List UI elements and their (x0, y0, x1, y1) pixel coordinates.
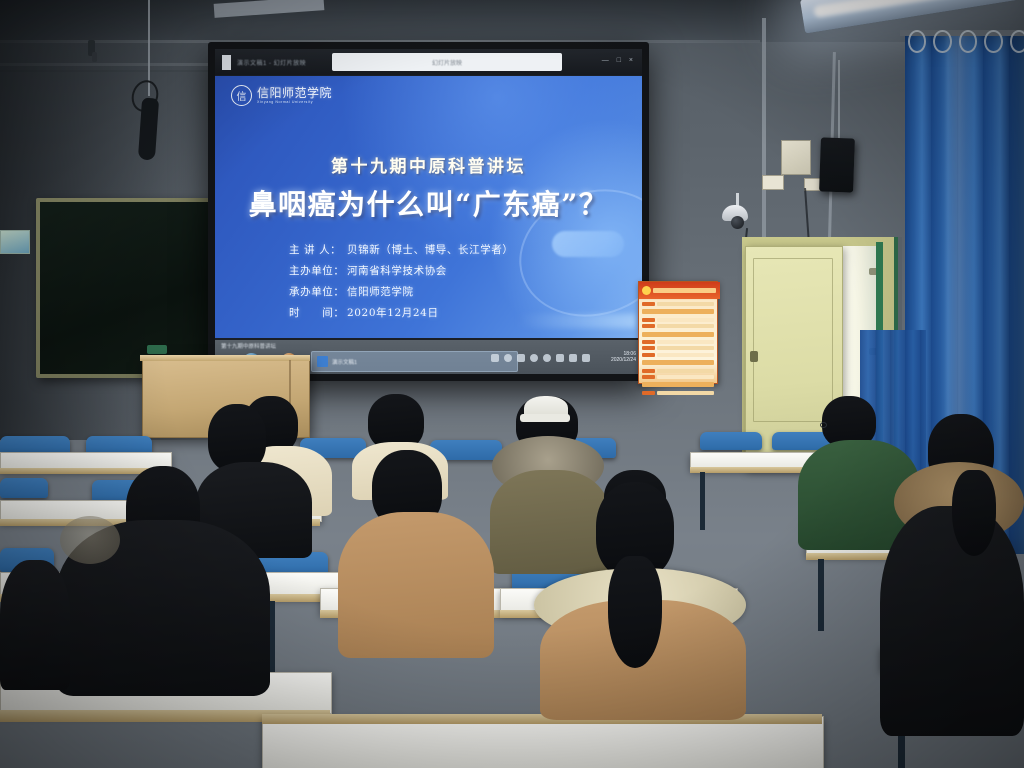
poster-row (642, 375, 714, 379)
ponytail (952, 470, 996, 556)
app-icon (222, 55, 231, 70)
slide-title: 鼻咽癌为什么叫“广东癌”？ (215, 183, 642, 223)
door-knob-icon[interactable] (750, 351, 758, 362)
curtain-ring-icon (933, 30, 951, 53)
camera-lens-icon (731, 216, 744, 229)
powerpoint-icon (317, 356, 328, 367)
glasses-icon (820, 422, 827, 428)
poster-header (639, 282, 720, 299)
poster-row (642, 318, 714, 322)
address-bar[interactable]: 幻灯片放映 (332, 53, 562, 71)
meta-value-speaker: 贝锦新（博士、博导、长江学者） (347, 244, 514, 256)
poster-row (642, 353, 714, 357)
poster-band (642, 382, 714, 387)
curtain-ring-icon (984, 30, 1002, 53)
presentation-slide: 信 信阳师范学院 Xinyang Normal University 第十九期中… (215, 76, 642, 338)
poster-row (642, 391, 714, 395)
university-logo: 信 信阳师范学院 Xinyang Normal University (231, 85, 332, 106)
system-tray[interactable] (491, 354, 590, 362)
wall-speaker-icon (819, 137, 855, 192)
network-icon[interactable] (491, 354, 499, 362)
ponytail (608, 556, 662, 668)
poster-band (642, 332, 714, 337)
podium-top-surface (140, 355, 310, 361)
meta-value-organizer: 河南省科学技术协会 (347, 265, 447, 277)
meta-label-date: 时 间： (289, 305, 347, 320)
meta-row-organizer: 主办单位：河南省科学技术协会 (289, 263, 514, 278)
coat (880, 506, 1024, 736)
cloud-icon[interactable] (543, 354, 551, 362)
chair (0, 478, 48, 498)
taskbar-window-title: 第十九期中原科普讲坛 (221, 342, 276, 350)
curtain-ring-icon (908, 30, 926, 53)
window-controls[interactable]: — □ × (602, 57, 636, 64)
slide-kicker: 第十九期中原科普讲坛 (215, 152, 642, 177)
chalk-tray-item (147, 345, 167, 354)
taskbar-active-window[interactable]: 演示文稿1 (311, 351, 518, 372)
meta-row-speaker: 主 讲 人：贝锦新（博士、博导、长江学者） (289, 242, 514, 257)
coat (490, 470, 610, 574)
cap-brim (520, 414, 570, 422)
slide-decor-pill (552, 231, 624, 257)
poster-row (642, 302, 714, 306)
power-socket-icon[interactable] (762, 175, 784, 190)
taskbar-clock[interactable]: 18:06 2020/12/24 (611, 351, 636, 364)
meta-row-host: 承办单位：信阳师范学院 (289, 284, 514, 299)
projection-screen-surface: 演示文稿1 - 幻灯片放映 幻灯片放映 — □ × 信 信阳师范学院 Xiny (215, 49, 642, 374)
electrical-box (781, 140, 811, 175)
curtain-ring-icon (1010, 30, 1024, 53)
taskbar-active-window-label: 演示文稿1 (332, 358, 357, 366)
window-tab-label: 演示文稿1 - 幻灯片放映 (237, 58, 306, 67)
blackboard (36, 198, 220, 378)
slide-metadata-list: 主 讲 人：贝锦新（博士、博导、长江学者） 主办单位：河南省科学技术协会 承办单… (289, 242, 514, 320)
fur-trim (60, 516, 120, 564)
poster-row (642, 340, 714, 344)
meta-label-organizer: 主办单位： (289, 263, 347, 278)
lecture-hall-scene: 演示文稿1 - 幻灯片放映 幻灯片放映 — □ × 信 信阳师范学院 Xiny (0, 0, 1024, 768)
poster-title-bar (653, 288, 716, 293)
poster-band (642, 360, 714, 365)
poster-badge-icon (642, 286, 651, 295)
speaker-cord (838, 60, 840, 140)
meta-value-host: 信阳师范学院 (347, 286, 414, 298)
curtain-ring-icon (959, 30, 977, 53)
wall-placard (0, 230, 30, 254)
address-bar-text: 幻灯片放映 (432, 58, 462, 67)
ime-icon[interactable] (530, 354, 538, 362)
shield-icon[interactable] (556, 354, 564, 362)
coat (0, 560, 70, 690)
wall-hook-icon-2 (92, 52, 97, 62)
door-panel (753, 258, 833, 422)
meta-row-date: 时 间：2020年12月24日 (289, 305, 514, 320)
chair (700, 432, 762, 450)
university-name-en: Xinyang Normal University (257, 101, 332, 105)
blackboard-surface (40, 202, 216, 374)
projected-window-titlebar: 演示文稿1 - 幻灯片放映 幻灯片放映 — □ × (215, 49, 642, 75)
meta-value-date: 2020年12月24日 (347, 307, 439, 319)
volume-icon[interactable] (504, 354, 512, 362)
meta-label-host: 承办单位： (289, 284, 347, 299)
university-seal-icon: 信 (231, 85, 252, 106)
poster-row (642, 346, 714, 350)
projection-screen: 演示文稿1 - 幻灯片放映 幻灯片放映 — □ × 信 信阳师范学院 Xiny (208, 42, 649, 381)
slide-decor-glow (516, 314, 636, 328)
poster-row (642, 324, 714, 328)
coat (338, 512, 494, 658)
meta-label-speaker: 主 讲 人： (289, 242, 347, 257)
poster-row (642, 369, 714, 373)
curtain-rings (908, 30, 1024, 52)
arrow-up-icon[interactable] (569, 354, 577, 362)
desk-leg (818, 559, 824, 631)
poster-band (642, 309, 714, 314)
monitor-icon[interactable] (582, 354, 590, 362)
university-name-cn: 信阳师范学院 (257, 87, 332, 99)
wall-poster (638, 281, 718, 384)
battery-icon[interactable] (517, 354, 525, 362)
clock-date: 2020/12/24 (611, 357, 636, 363)
poster-table (642, 302, 714, 395)
desk-leg (700, 472, 705, 530)
